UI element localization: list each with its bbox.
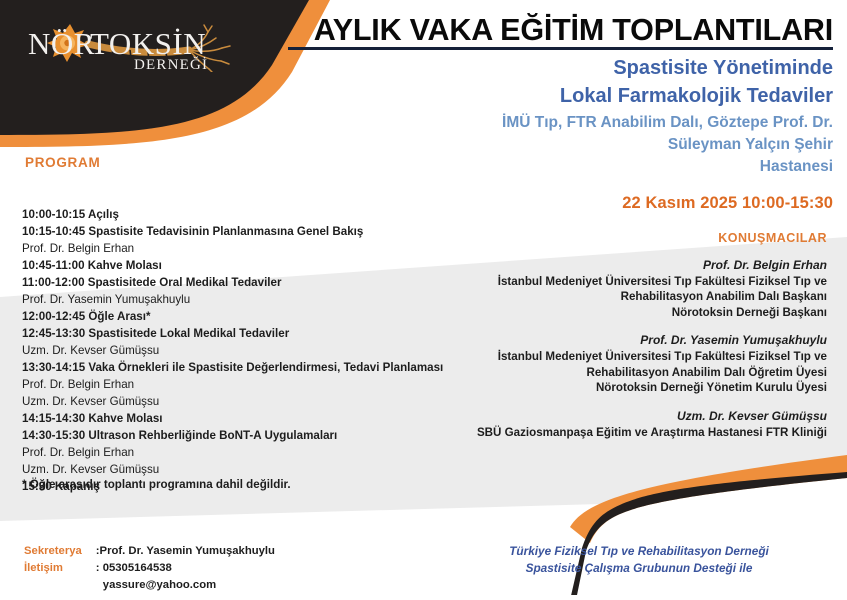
speaker-entry: Uzm. Dr. Kevser GümüşsuSBÜ Gaziosmanpaşa… [347,409,827,440]
speaker-name: Uzm. Dr. Kevser Gümüşsu [347,409,827,425]
speaker-affiliation-line: Nörotoksin Derneği Yönetim Kurulu Üyesi [347,380,827,396]
support-note: Türkiye Fiziksel Tıp ve Rehabilitasyon D… [449,543,829,577]
speaker-affiliation-line: SBÜ Gaziosmanpaşa Eğitim ve Araştırma Ha… [347,425,827,441]
contact-row-secretariat: Sekreterya :Prof. Dr. Yasemin Yumuşakhuy… [24,543,275,560]
program-session-row: 10:15-10:45 Spastisite Tedavisinin Planl… [22,224,452,241]
footer-bottom-line [0,595,847,600]
speaker-entry: Prof. Dr. Belgin Erhanİstanbul Medeniyet… [347,258,827,320]
contact-email-value[interactable]: yassure@yahoo.com [96,577,275,594]
program-speaker-row: Prof. Dr. Belgin Erhan [22,241,452,258]
page-title: AYLIK VAKA EĞİTİM TOPLANTILARI [288,14,833,50]
speaker-affiliation-line: Rehabilitasyon Anabilim Dalı Başkanı [347,289,827,305]
contact-empty-label [24,577,96,594]
contact-row-email: yassure@yahoo.com [24,577,275,594]
venue-line-3: Hastanesi [213,156,833,178]
program-session-row: 10:00-10:15 Açılış [22,207,452,224]
footer-orange-wedge [566,465,847,600]
speaker-affiliation-line: Nörotoksin Derneği Başkanı [347,305,827,321]
support-line-2: Spastisite Çalışma Grubunun Desteği ile [449,560,829,577]
footer-dark-outline [570,472,847,600]
secretariat-value: :Prof. Dr. Yasemin Yumuşakhuylu [96,543,275,560]
event-poster: NÖR TOKSİN DERNEĞİ AYLIK VAKA EĞİTİM TOP… [0,0,847,600]
footer-orange-band [570,455,847,543]
svg-text:TOKSİN: TOKSİN [90,26,206,61]
contact-phone-value: : 05305164538 [96,560,275,577]
speaker-entry: Prof. Dr. Yasemin Yumuşakhuyluİstanbul M… [347,333,827,395]
speakers-heading: KONUŞMACILAR [718,231,827,245]
speaker-name: Prof. Dr. Belgin Erhan [347,258,827,274]
subtitle-line-1: Spastisite Yönetiminde [213,56,833,80]
venue-block: İMÜ Tıp, FTR Anabilim Dalı, Göztepe Prof… [213,112,833,178]
svg-text:DERNEĞİ: DERNEĞİ [134,56,208,72]
speaker-affiliation-line: Rehabilitasyon Anabilim Dalı Öğretim Üye… [347,365,827,381]
speaker-name: Prof. Dr. Yasemin Yumuşakhuylu [347,333,827,349]
program-speaker-row: Uzm. Dr. Kevser Gümüşsu [22,462,452,479]
speakers-list: Prof. Dr. Belgin Erhanİstanbul Medeniyet… [347,258,827,440]
venue-line-1: İMÜ Tıp, FTR Anabilim Dalı, Göztepe Prof… [213,112,833,134]
contact-block: Sekreterya :Prof. Dr. Yasemin Yumuşakhuy… [24,543,275,593]
svg-text:NÖR: NÖR [28,26,95,61]
contact-row-phone: İletişim : 05305164538 [24,560,275,577]
speaker-affiliation-line: İstanbul Medeniyet Üniversitesi Tıp Fakü… [347,274,827,290]
program-speaker-row: Prof. Dr. Belgin Erhan [22,445,452,462]
speaker-affiliation-line: İstanbul Medeniyet Üniversitesi Tıp Fakü… [347,349,827,365]
subtitle-line-2: Lokal Farmakolojik Tedaviler [213,84,833,108]
program-heading: PROGRAM [25,155,100,170]
contact-label: İletişim [24,560,96,577]
secretariat-label: Sekreterya [24,543,96,560]
program-footnote: * Öğle arasıdır toplantı programına dahi… [22,478,291,491]
venue-line-2: Süleyman Yalçın Şehir [213,134,833,156]
support-line-1: Türkiye Fiziksel Tıp ve Rehabilitasyon D… [449,543,829,560]
